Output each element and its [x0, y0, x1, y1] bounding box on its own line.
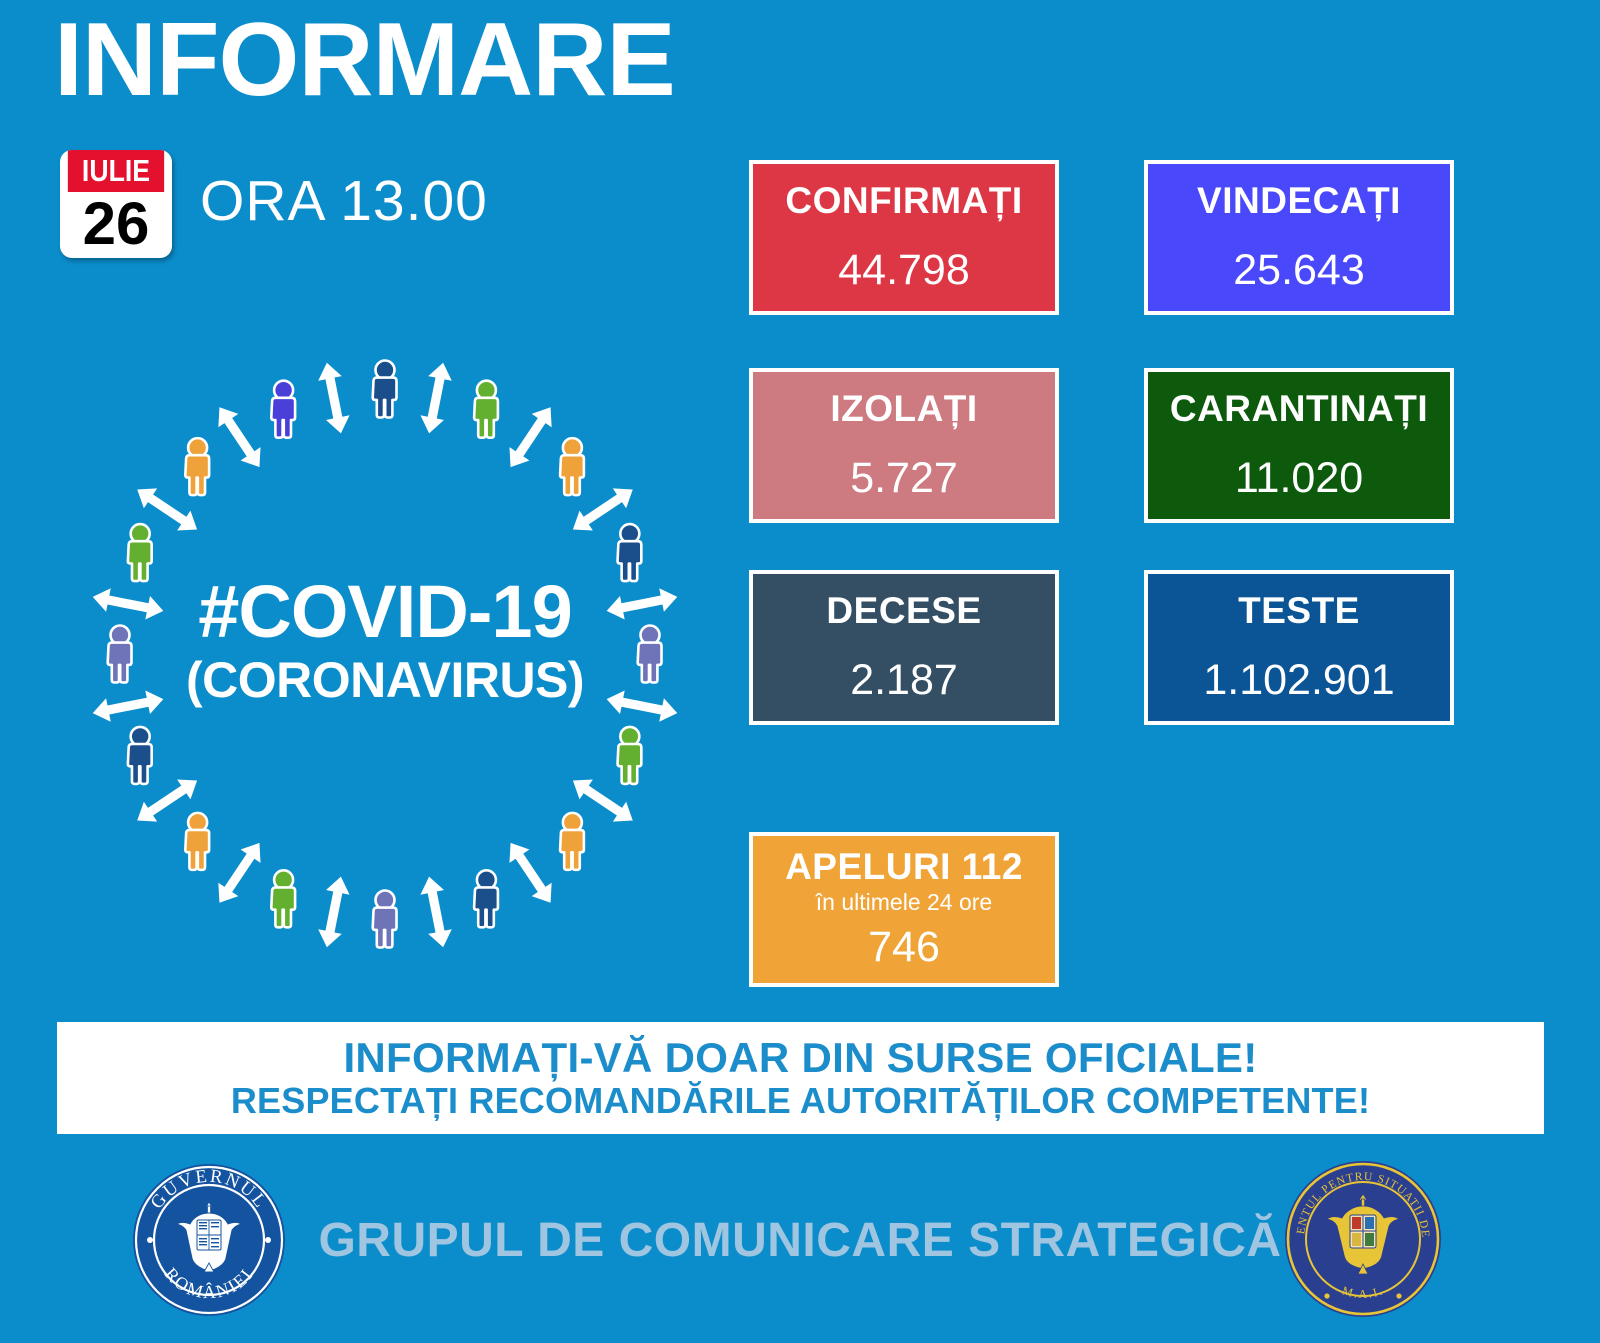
stat-value-carantinati: 11.020 [1235, 455, 1363, 502]
statistics-panel: CONFIRMAȚI 44.798 VINDECAȚI 25.643 IZOLA… [749, 160, 1469, 990]
person-icon [157, 801, 238, 882]
stat-card-confirmati: CONFIRMAȚI 44.798 [749, 160, 1059, 315]
stat-card-izolati: IZOLAȚI 5.727 [749, 368, 1059, 523]
person-icon [597, 516, 661, 590]
stat-sublabel-apeluri: în ultimele 24 ore [816, 889, 992, 917]
banner-primary-message: INFORMAȚI-VĂ DOAR DIN SURSE OFICIALE! [343, 1034, 1257, 1081]
person-icon [454, 372, 518, 446]
stat-card-apeluri: APELURI 112 în ultimele 24 ore 746 [749, 832, 1059, 987]
stat-value-confirmati: 44.798 [838, 247, 970, 294]
stat-card-decese: DECESE 2.187 [749, 570, 1059, 725]
people-ring [108, 361, 662, 948]
page-title: INFORMARE [54, 6, 675, 115]
person-icon [251, 372, 315, 446]
person-icon [108, 516, 172, 590]
distance-arrows [90, 360, 679, 949]
person-icon [373, 361, 397, 418]
stat-value-vindecati: 25.643 [1233, 247, 1365, 294]
stat-value-apeluri: 746 [868, 924, 940, 971]
person-icon [157, 426, 238, 507]
stat-card-teste: TESTE 1.102.901 [1144, 570, 1454, 725]
stat-label-teste: TESTE [1238, 591, 1360, 632]
hour-label: ORA 13.00 [200, 168, 488, 234]
stat-label-izolati: IZOLAȚI [830, 389, 977, 430]
person-icon [532, 426, 613, 507]
public-message-banner: INFORMAȚI-VĂ DOAR DIN SURSE OFICIALE! RE… [57, 1022, 1544, 1134]
footer: GUVERNUL ROMÂNIEI [0, 1140, 1600, 1343]
stat-value-teste: 1.102.901 [1203, 657, 1394, 704]
covid-circle-illustration: #COVID-19 (CORONAVIRUS) [60, 330, 710, 980]
person-icon [638, 626, 662, 683]
dsu-emergency-department-logo-icon: DEPARTAMENTUL PENTRU SITUATII DE URGENTA… [1283, 1155, 1443, 1323]
person-icon [251, 862, 315, 936]
person-icon [597, 718, 661, 792]
stat-card-vindecati: VINDECAȚI 25.643 [1144, 160, 1454, 315]
person-icon [532, 801, 613, 882]
stat-label-carantinati: CARANTINAȚI [1170, 389, 1428, 430]
calendar-icon: IULIE 26 [60, 150, 172, 258]
person-icon [108, 626, 132, 683]
person-icon [108, 718, 172, 792]
banner-secondary-message: RESPECTAȚI RECOMANDĂRILE AUTORITĂȚILOR C… [231, 1081, 1370, 1121]
stat-label-apeluri: APELURI 112 [785, 847, 1023, 888]
calendar-month-label: IULIE [68, 150, 164, 192]
social-distancing-ring-graphic [60, 330, 710, 980]
calendar-day-label: 26 [60, 192, 172, 258]
stat-label-confirmati: CONFIRMAȚI [785, 181, 1022, 222]
stat-card-carantinati: CARANTINAȚI 11.020 [1144, 368, 1454, 523]
person-icon [373, 891, 397, 948]
stat-value-izolati: 5.727 [850, 455, 958, 502]
stat-label-vindecati: VINDECAȚI [1197, 181, 1401, 222]
stat-value-decese: 2.187 [850, 657, 958, 704]
person-icon [454, 862, 518, 936]
stat-label-decese: DECESE [826, 591, 981, 632]
